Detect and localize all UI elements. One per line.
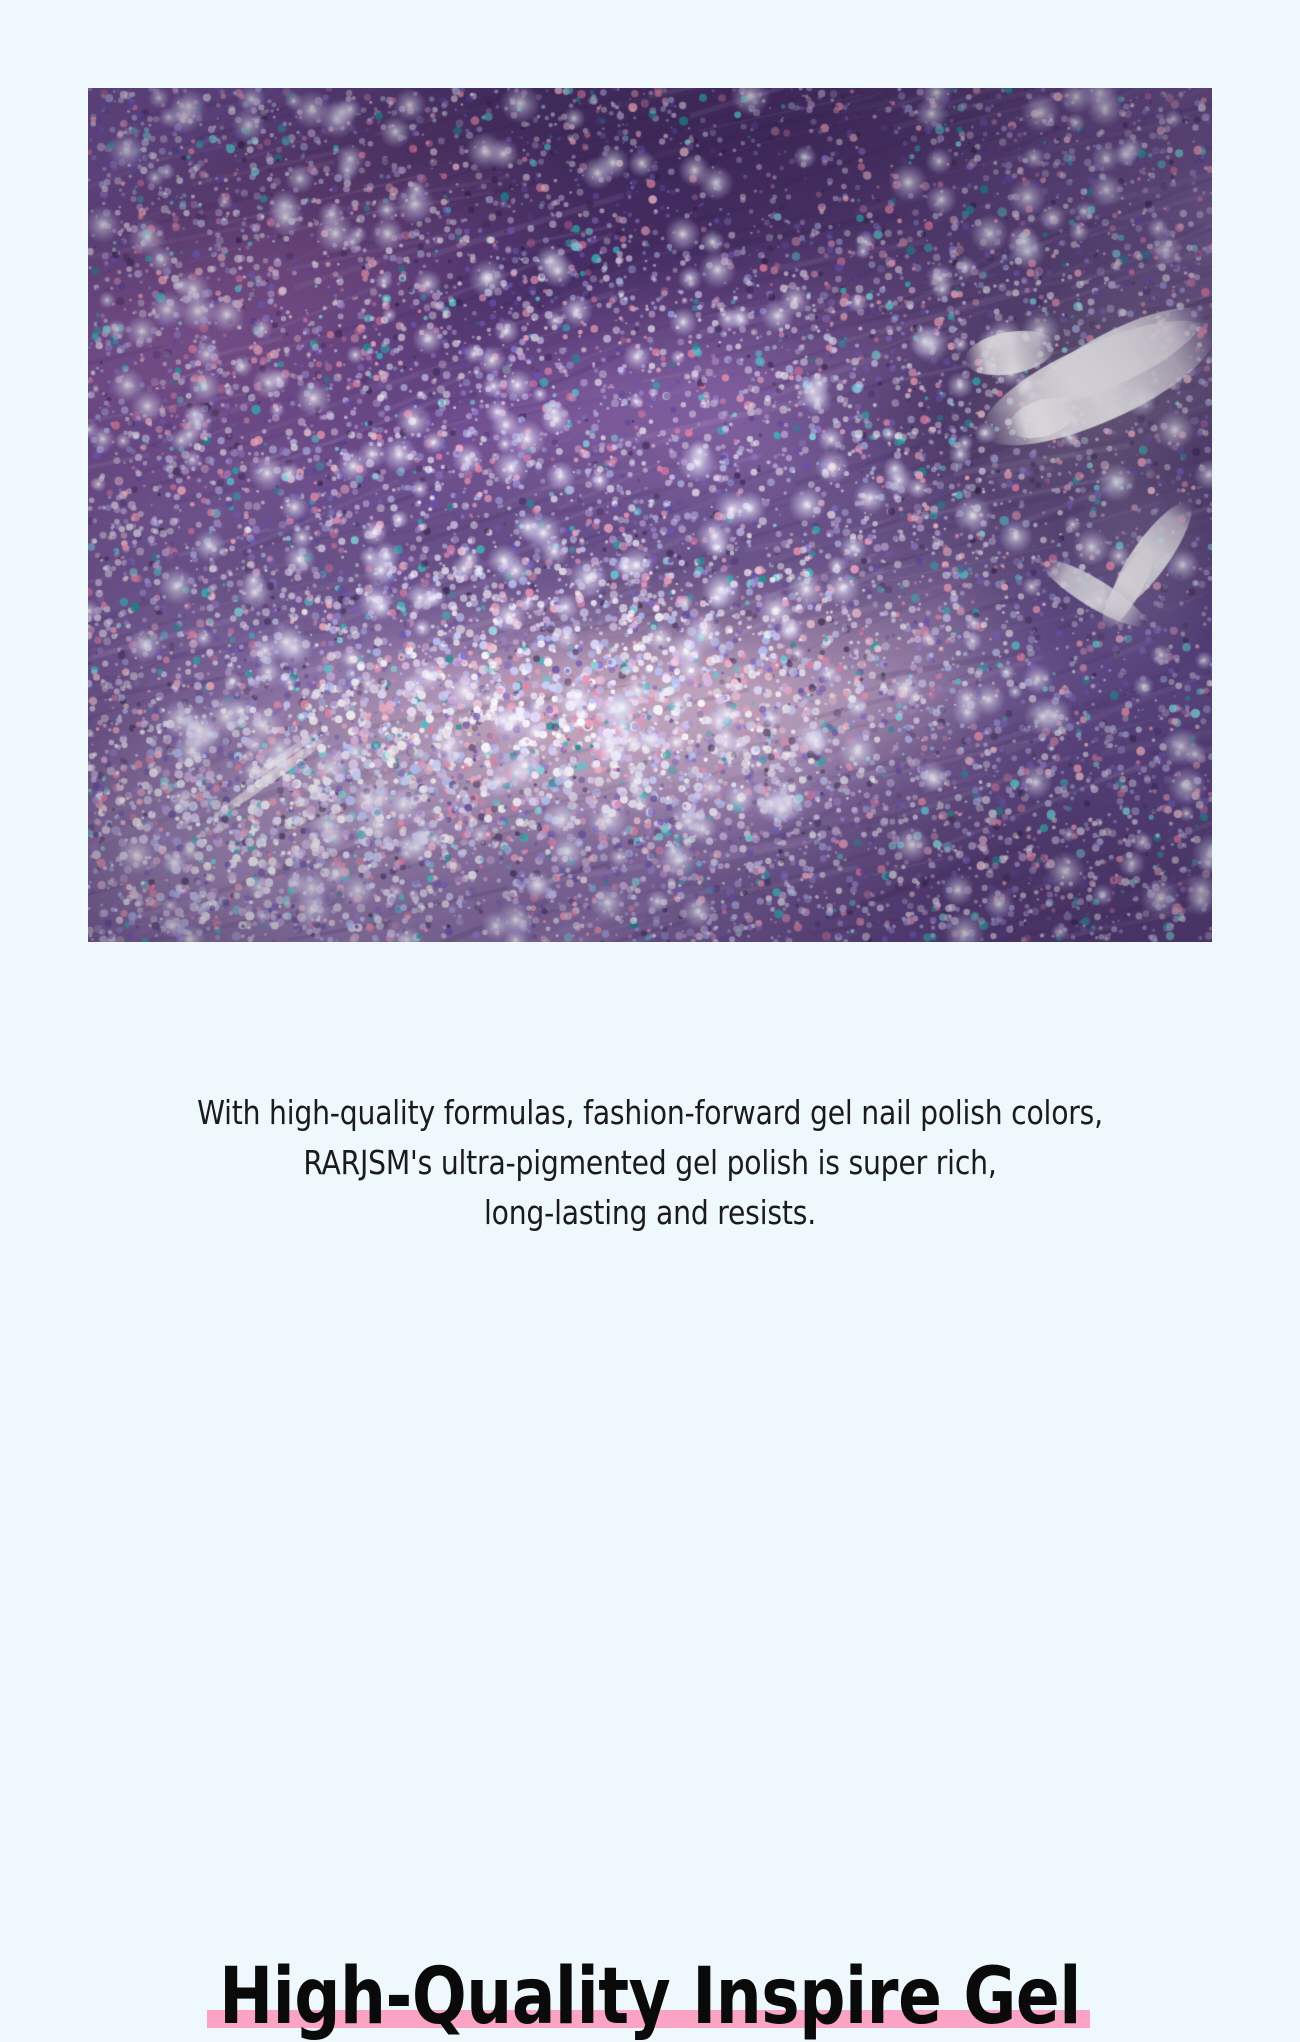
description-line-2: RARJSM's ultra-pigmented gel polish is s… [33, 1138, 1268, 1188]
product-photo [88, 88, 1212, 942]
description-line-3: long-lasting and resists. [33, 1188, 1268, 1238]
product-description: With high-quality formulas, fashion-forw… [0, 1088, 1300, 1238]
page-title: High-Quality Inspire Gel [52, 1957, 1248, 2037]
description-line-1: With high-quality formulas, fashion-forw… [33, 1088, 1268, 1138]
glitter-gel-nail-polish-macro-image [88, 88, 1212, 942]
heading-block: High-Quality Inspire Gel [0, 975, 1300, 1075]
product-info-page: High-Quality Inspire Gel With high-quali… [0, 0, 1300, 1300]
